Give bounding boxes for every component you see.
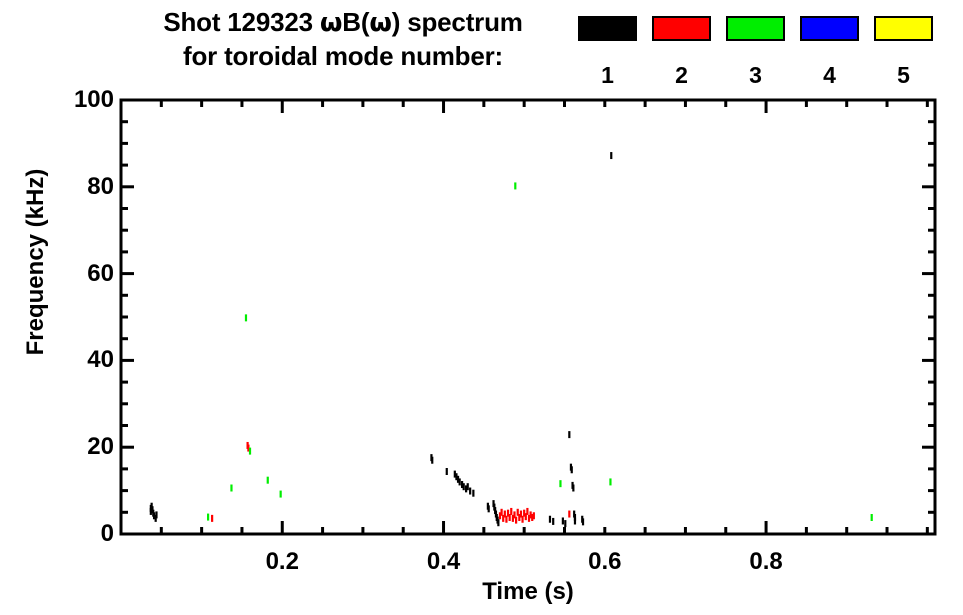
series-2 [212, 442, 569, 524]
series-3 [208, 182, 872, 521]
series-1 [151, 152, 611, 527]
plot-frame [121, 100, 935, 534]
spectrum-figure: Shot 129323 ωB(ω) spectrum for toroidal … [0, 0, 963, 615]
plot-area [0, 0, 963, 615]
data-points-group [151, 152, 872, 527]
